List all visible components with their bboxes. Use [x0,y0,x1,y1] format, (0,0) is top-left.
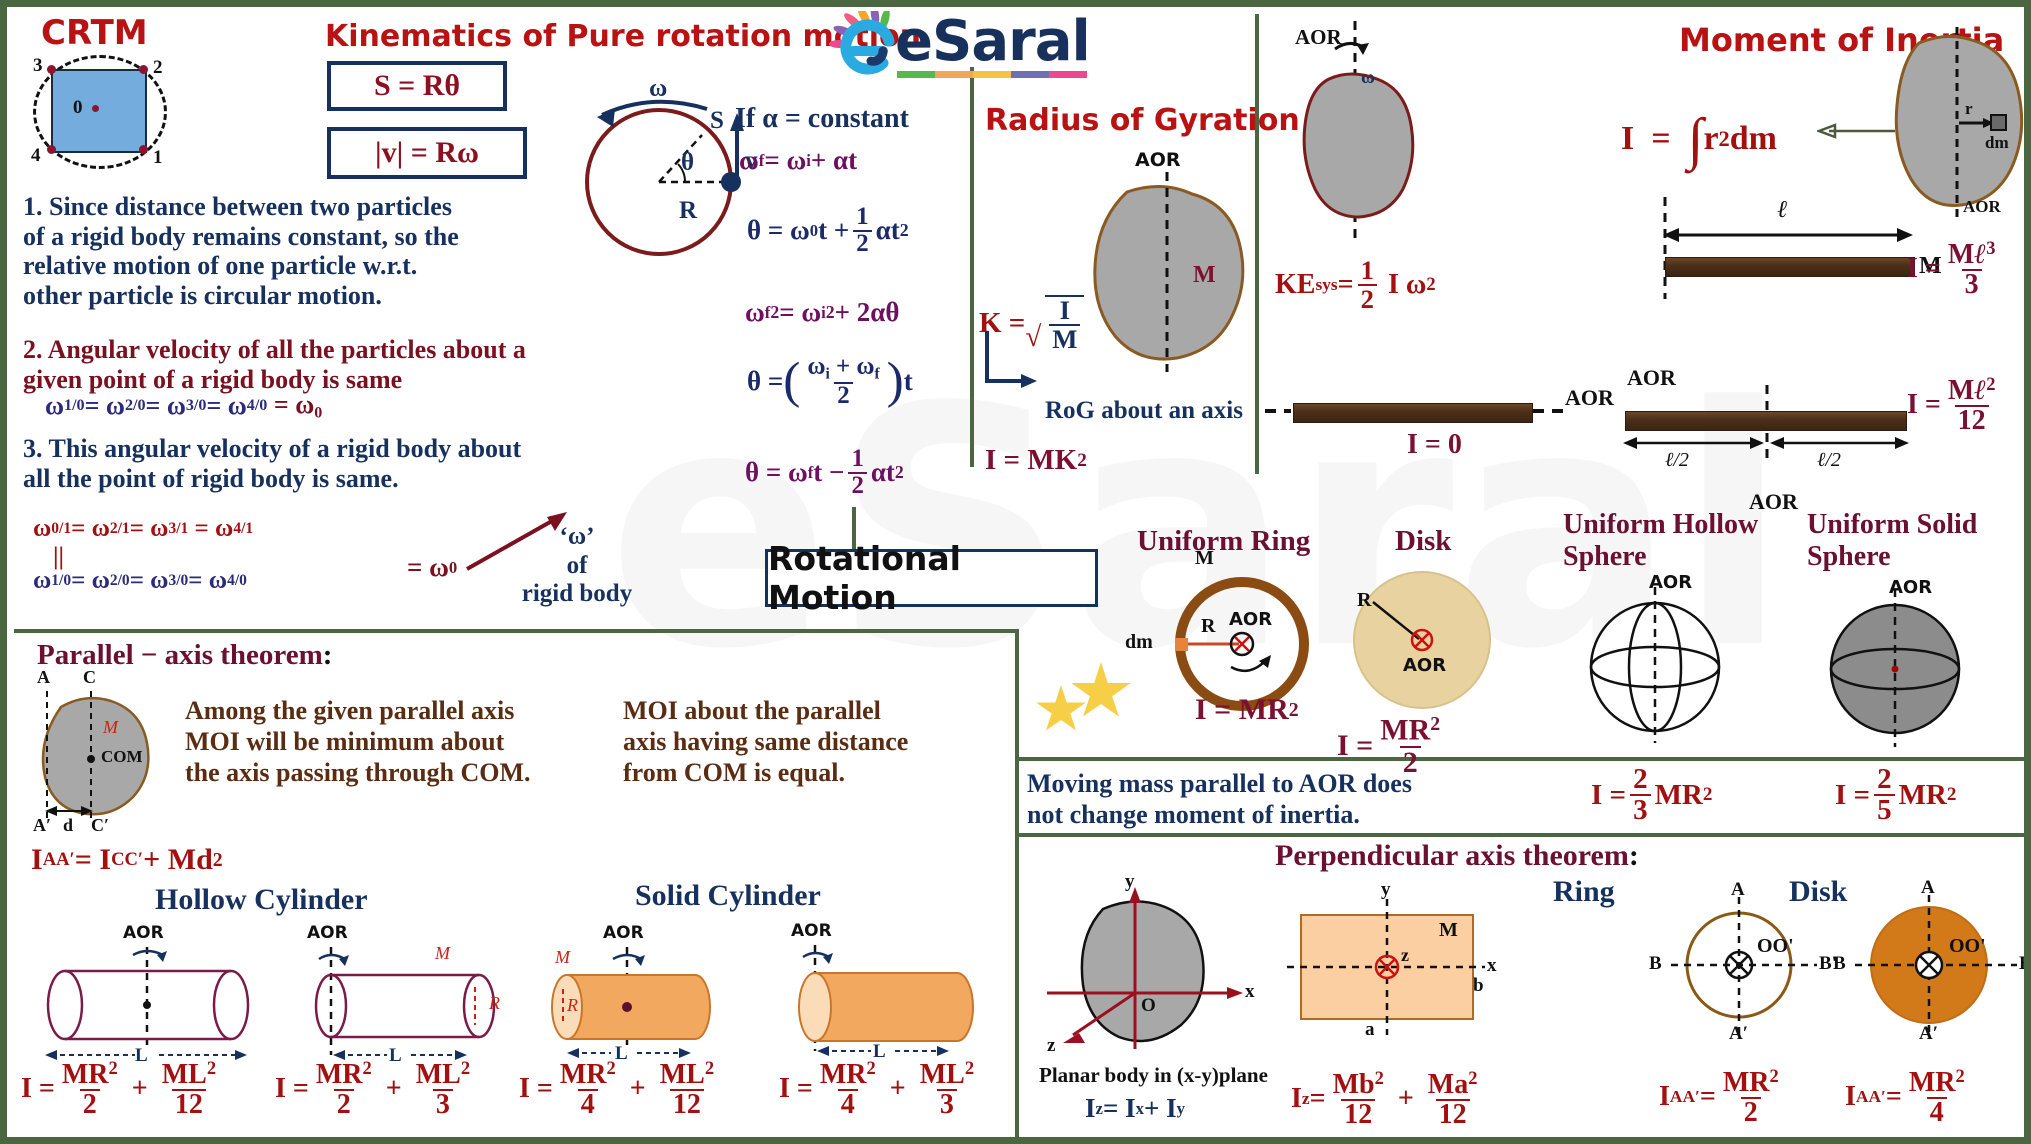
crtm-label-2: 2 [153,57,163,79]
perp-rect-formula: Iz = Mb212 + Ma212 [1291,1069,1484,1129]
crtm-point-0 [92,105,99,112]
moi-label-dm: dm [1985,133,2009,153]
crtm-callout-line-1: ‘ω’ [487,523,667,552]
kinematics-label-S: S [710,107,724,135]
moi-label-r: r [1965,99,1973,119]
solid-cylinder-end-aor-label: AOR [791,921,832,941]
rog-figure: M [1067,172,1267,372]
crtm-point-3-line-2: all the point of rigid body is same. [23,464,623,494]
disk-radius-label: R [1357,589,1371,612]
page-title: Rotational Motion [768,539,1095,617]
star-decoration-small [1035,685,1087,735]
hollow-cylinder-heading: Hollow Cylinder [155,883,368,917]
disk-figure: R AOR [1347,567,1497,717]
crtm-equation-relative-1: ω0/1 = ω2/1 = ω3/1 = ω4/1 [33,515,253,543]
divider-vertical-kinematics [970,67,974,467]
perp-disk-label-B-prime: B' [2019,953,2031,975]
parallel-axis-note-2-line-2: axis having same distance [623,726,908,757]
parallel-axis-label-C-prime: C′ [91,815,109,836]
infographic-page: eSaral CRTM 1 2 3 4 0 1. Since distance … [0,0,2031,1144]
perp-ring-label-A: A [1731,879,1745,901]
kinematics-label-theta: θ [681,149,694,177]
crtm-label-1: 1 [153,147,163,169]
perp-rect-label-mass: M [1439,919,1458,942]
perp-ring-label-OO: OO' [1757,935,1794,958]
crtm-label-0: 0 [73,97,83,119]
esaral-logo-underline [897,71,1087,78]
perp-planar-figure: y x z O [1037,873,1267,1058]
perp-planar-formula: Iz= Ix + Iy [1085,1093,1185,1124]
crtm-point-3-text: 3. This angular velocity of a rigid body… [23,434,623,493]
crtm-point-2-line-1: 2. Angular velocity of all the particles… [23,335,623,365]
perp-rect-label-b: b [1473,975,1484,997]
solid-cylinder-end-figure: AOR L [785,929,995,1069]
hollow-cylinder-end-mass-label: M [435,943,450,964]
moi-formula-arrow-icon [1817,119,1897,143]
parallel-axis-note-1-line-2: MOI will be minimum about [185,726,531,757]
crtm-point-1-text: 1. Since distance between two particles … [23,192,603,311]
moi-figure: r dm AOR [1887,27,2031,222]
crtm-label-3: 3 [33,55,43,77]
kinematics-label-R: R [679,197,697,225]
perp-rect-label-x: x [1487,955,1497,977]
ring-formula: I = MR2 [1195,693,1299,727]
parallel-axis-note-1-line-3: the axis passing through COM. [185,757,531,788]
disk-heading: Disk [1395,525,1451,558]
rod-end-bar [1665,257,1915,277]
perp-disk-figure: A A′ B B' OO' [1817,887,2031,1037]
crtm-point-1 [139,145,148,154]
crtm-point-3 [47,65,56,74]
ke-formula: KEsys = 12 I ω2 [1275,257,1436,312]
ring-aor-label: AOR [1229,609,1272,630]
crtm-label-4: 4 [31,145,41,167]
hollow-cylinder-center-figure: AOR L [35,929,250,1069]
parallel-axis-note-1-line-1: Among the given parallel axis [185,695,531,726]
moving-mass-note-line-1: Moving mass parallel to AOR does [1027,769,1412,800]
kinematics-box-s-equals-r-theta: S = Rθ [327,61,507,111]
rod-center-formula: I = Mℓ212 [1907,375,2003,435]
star-decoration-large [1070,662,1132,722]
kinematics-equation-4: θ = ( ωi + ωf2 ) t [747,355,913,409]
rog-note: RoG about an axis [1045,397,1243,425]
divider-horizontal-parallel-axis [14,629,1019,633]
hollow-cylinder-center-aor-label: AOR [123,923,164,943]
hollow-sphere-figure [1575,585,1735,745]
perp-rect-label-z: z [1401,945,1409,966]
crtm-equation-result: = ω0 [407,552,457,583]
perp-rect-label-y: y [1381,879,1391,901]
moving-mass-note: Moving mass parallel to AOR does not cha… [1027,769,1412,830]
perp-planar-label-x: x [1245,981,1255,1003]
crtm-equation-same-point: ω1/0 = ω2/0= ω3/0 = ω4/0 = ω0 [45,390,322,423]
parallel-axis-note-2: MOI about the parallel axis having same … [623,695,908,789]
crtm-point-1-line-4: other particle is circular motion. [23,281,603,311]
solid-cylinder-end-formula: I = MR24 + ML23 [779,1059,981,1119]
crtm-figure: 1 2 3 4 0 [29,51,169,166]
crtm-point-2 [139,65,148,74]
rod-end-formula: I = Mℓ33 [1907,239,2003,299]
rog-aor-label: AOR [1135,149,1181,171]
disk-aor-label: AOR [1403,655,1446,676]
crtm-point-2-text: 2. Angular velocity of all the particles… [23,335,623,394]
parallel-axis-label-C: C [83,667,96,688]
rod-along-bar [1293,403,1533,423]
perp-disk-label-A-prime: A′ [1919,1023,1938,1045]
parallel-axis-heading-colon: : [323,639,333,671]
parallel-axis-label-d: d [63,815,73,836]
divider-vertical-perp-axis [1015,833,1019,1144]
ring-dm-label: dm [1125,631,1153,654]
crtm-equation-relative-2: ω1/0 = ω2/0= ω3/0 = ω4/0 [33,567,247,595]
hollow-cylinder-end-aor-label: AOR [307,923,348,943]
moving-mass-note-line-2: not change moment of inertia. [1027,800,1412,831]
ke-figure: ω [1289,17,1469,247]
perp-rect-figure: y x z M a b [1287,897,1487,1037]
moi-label-aor: AOR [1963,197,2001,217]
perp-planar-caption: Planar body in (x-y)plane [1039,1063,1268,1088]
hollow-cylinder-center-formula: I = MR22 + ML212 [21,1059,223,1119]
kinematics-equation-5: θ = ωf t − 12 αt2 [745,447,904,499]
kinematics-box-v-equals-r-omega: |v| = Rω [327,127,527,179]
parallel-axis-formula: IAA′ = ICC′ + Md2 [31,843,223,877]
parallel-axis-label-A: A [37,667,50,688]
rod-center-figure: ℓ/2 ℓ/2 [1617,359,1917,469]
rog-note-arrow-icon [981,329,1041,399]
center-title-box: Rotational Motion [765,549,1098,607]
kinematics-equation-2: θ = ω0t + 12 αt2 [747,205,909,257]
perp-disk-label-A: A [1921,877,1935,899]
parallel-axis-note-1: Among the given parallel axis MOI will b… [185,695,531,789]
crtm-point-1-line-1: 1. Since distance between two particles [23,192,603,222]
solid-cylinder-center-aor-label: AOR [603,923,644,943]
solid-cylinder-center-formula: I = MR24 + ML212 [519,1059,721,1119]
parallel-axis-note-2-line-1: MOI about the parallel [623,695,908,726]
perp-ring-heading: Ring [1553,875,1615,909]
kinematics-condition: If α = constant [735,103,909,135]
parallel-axis-figure: A C A′ d C′ COM M [29,679,169,829]
rog-mass-label: M [1193,262,1216,289]
crtm-callout-text: ‘ω’ of rigid body [487,523,667,609]
parallel-axis-heading: Parallel − axis theorem: [37,639,332,672]
crtm-heading: CRTM [41,13,148,53]
divider-horizontal-perp-axis [1015,833,2031,837]
parallel-axis-label-mass: M [103,717,118,738]
hollow-cylinder-end-formula: I = MR22 + ML23 [275,1059,477,1119]
parallel-axis-label-com: COM [101,747,143,767]
hollow-sphere-heading: Uniform Hollow Sphere [1563,509,1763,574]
perpendicular-axis-heading-text: Perpendicular axis theorem [1275,839,1629,872]
solid-sphere-figure [1815,589,1975,749]
crtm-square [51,69,147,153]
rod-center-bar [1625,411,1907,431]
crtm-callout-line-3: rigid body [487,580,667,609]
hollow-cylinder-end-radius-label: R [489,993,500,1014]
rog-heading: Radius of Gyration [985,103,1300,138]
parallel-axis-heading-text: Parallel − axis theorem [37,639,323,671]
divider-horizontal-moving-mass [1015,757,2031,761]
crtm-point-3-line-1: 3. This angular velocity of a rigid body… [23,434,623,464]
parallel-axis-note-2-line-3: from COM is equal. [623,757,908,788]
parallel-axis-label-A-prime: A′ [33,815,51,836]
ring-heading: Uniform Ring [1137,525,1310,558]
perp-ring-label-A-prime: A′ [1729,1023,1748,1045]
solid-cylinder-heading: Solid Cylinder [635,879,821,913]
perp-disk-label-OO: OO' [1949,935,1986,958]
kinematics-equation-3: ωf2 = ωi2 + 2αθ [745,297,899,328]
esaral-logo-text: eSaral [895,9,1090,74]
perp-ring-label-B: B [1649,953,1662,975]
rod-along-formula: I = 0 [1407,429,1462,461]
perp-rect-label-a: a [1365,1019,1375,1041]
perp-disk-label-B: B [1833,953,1846,975]
solid-cylinder-center-mass-label: M [555,947,570,968]
solid-cylinder-center-radius-label: R [567,995,578,1016]
perpendicular-axis-heading: Perpendicular axis theorem: [1275,839,1639,873]
ke-omega-label: ω [1361,67,1375,89]
rod-end-length-label: ℓ [1777,197,1787,224]
rod-along-aor-label: AOR [1565,385,1614,411]
perp-ring-formula: IAA′= MR22 [1659,1067,1786,1127]
ring-mass-label: M [1195,547,1214,570]
crtm-point-4 [47,145,56,154]
crtm-callout-line-2: of [487,552,667,581]
hollow-sphere-formula: I = 23 MR2 [1591,765,1712,825]
rod-center-half-right-label: ℓ/2 [1817,449,1841,472]
crtm-point-1-line-2: of a rigid body remains constant, so the [23,222,603,252]
solid-sphere-heading: Uniform Solid Sphere [1807,509,2007,574]
solid-sphere-formula: I = 25 MR2 [1835,765,1956,825]
perpendicular-axis-heading-colon: : [1629,839,1639,872]
moi-formula-integral: I = ∫ r2 dm [1621,105,1777,172]
ring-radius-label: R [1201,615,1215,638]
rog-formula-i: I = MK2 [985,444,1087,477]
hollow-cylinder-end-figure: AOR L M R [303,929,518,1069]
kinematics-formula-velocity: |v| = Rω [375,136,479,170]
kinematics-label-omega: ω [649,75,667,103]
solid-cylinder-center-figure: AOR L M R [535,929,735,1069]
esaral-logo: eSaral [827,11,1097,77]
crtm-point-1-line-3: relative motion of one particle w.r.t. [23,251,603,281]
perp-planar-label-z: z [1047,1035,1055,1057]
perp-planar-label-y: y [1125,871,1135,893]
rod-center-half-left-label: ℓ/2 [1665,449,1689,472]
kinematics-equation-1: ωf= ωi + αt [739,145,857,176]
kinematics-formula-arc: S = Rθ [374,69,460,103]
perp-disk-formula: IAA′ = MR24 [1845,1067,1972,1127]
perp-planar-label-origin: O [1141,995,1156,1017]
